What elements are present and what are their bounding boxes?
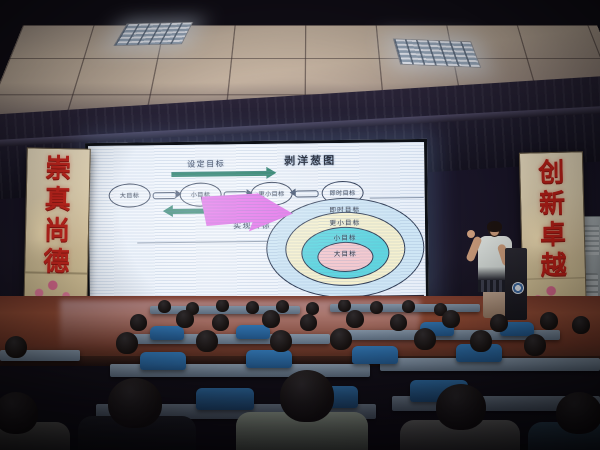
left-banner-characters: 崇 真 尚 德 (25, 154, 90, 276)
audience-head (470, 330, 492, 352)
left-banner-char-3: 尚 (44, 217, 71, 246)
audience-head (262, 310, 280, 328)
presenter-raised-hand (467, 230, 475, 238)
audience-head (130, 314, 147, 331)
audience-head-foreground (0, 392, 38, 434)
audience-head (338, 300, 351, 312)
audience-head (330, 328, 352, 350)
audience-seating (0, 300, 600, 450)
left-banner-char-1: 崇 (45, 155, 72, 184)
audience-head-foreground (556, 392, 600, 434)
audience-head (390, 314, 407, 331)
audience-head (270, 330, 292, 352)
slide-canvas: 剥洋葱图 设定目标 实现目标 大目标 小目标 更小目标 即时目标 即时目标 更小… (88, 142, 426, 304)
audience-head (176, 310, 194, 328)
audience-head (158, 300, 171, 313)
chain-link-1 (153, 192, 177, 199)
left-banner-char-2: 真 (44, 186, 71, 215)
right-banner-char-1: 创 (538, 159, 565, 188)
chain-link-3 (295, 190, 319, 197)
chair (236, 325, 270, 339)
presenter-hair (487, 221, 502, 232)
audience-head (276, 300, 289, 313)
audience-head (572, 316, 590, 334)
chair (196, 388, 254, 410)
audience-head (346, 310, 364, 328)
audience-head (402, 300, 415, 313)
audience-head-foreground (436, 384, 486, 430)
audience-head-foreground (280, 370, 334, 422)
chair (150, 326, 184, 340)
audience-head (490, 314, 508, 332)
chair (140, 352, 186, 370)
auditorium-photo: 剥洋葱图 设定目标 实现目标 大目标 小目标 更小目标 即时目标 即时目标 更小… (0, 0, 600, 450)
audience-head (370, 301, 383, 314)
recessed-grille-light-right-icon (393, 39, 481, 68)
green-arrow-right (171, 171, 267, 177)
audience-head (216, 300, 229, 312)
audience-head (5, 336, 27, 358)
audience-head (540, 312, 558, 330)
audience-head-foreground (108, 378, 162, 428)
audience-head (414, 328, 436, 350)
left-banner-char-4: 德 (43, 248, 70, 277)
chair (352, 346, 398, 364)
audience-head (246, 301, 259, 314)
led-presentation-screen: 剥洋葱图 设定目标 实现目标 大目标 小目标 更小目标 即时目标 即时目标 更小… (85, 139, 429, 307)
audience-head (196, 330, 218, 352)
right-banner-char-4: 越 (540, 252, 567, 281)
audience-head (116, 332, 138, 354)
slide-title: 剥洋葱图 (284, 152, 336, 169)
right-banner-char-3: 卓 (540, 221, 567, 250)
audience-head (212, 314, 229, 331)
recessed-grille-light-left-icon (113, 22, 193, 46)
school-crest-icon (512, 282, 524, 294)
goal-ellipse-1: 大目标 (109, 183, 151, 208)
chair (246, 350, 292, 368)
audience-head (300, 314, 317, 331)
slide-label-set-goal: 设定目标 (187, 158, 225, 169)
right-banner-char-2: 新 (539, 190, 566, 219)
audience-head (442, 310, 460, 328)
audience-head (524, 334, 546, 356)
right-banner-characters: 创 新 卓 越 (520, 158, 585, 280)
left-wall-banner: 崇 真 尚 德 (23, 147, 91, 318)
